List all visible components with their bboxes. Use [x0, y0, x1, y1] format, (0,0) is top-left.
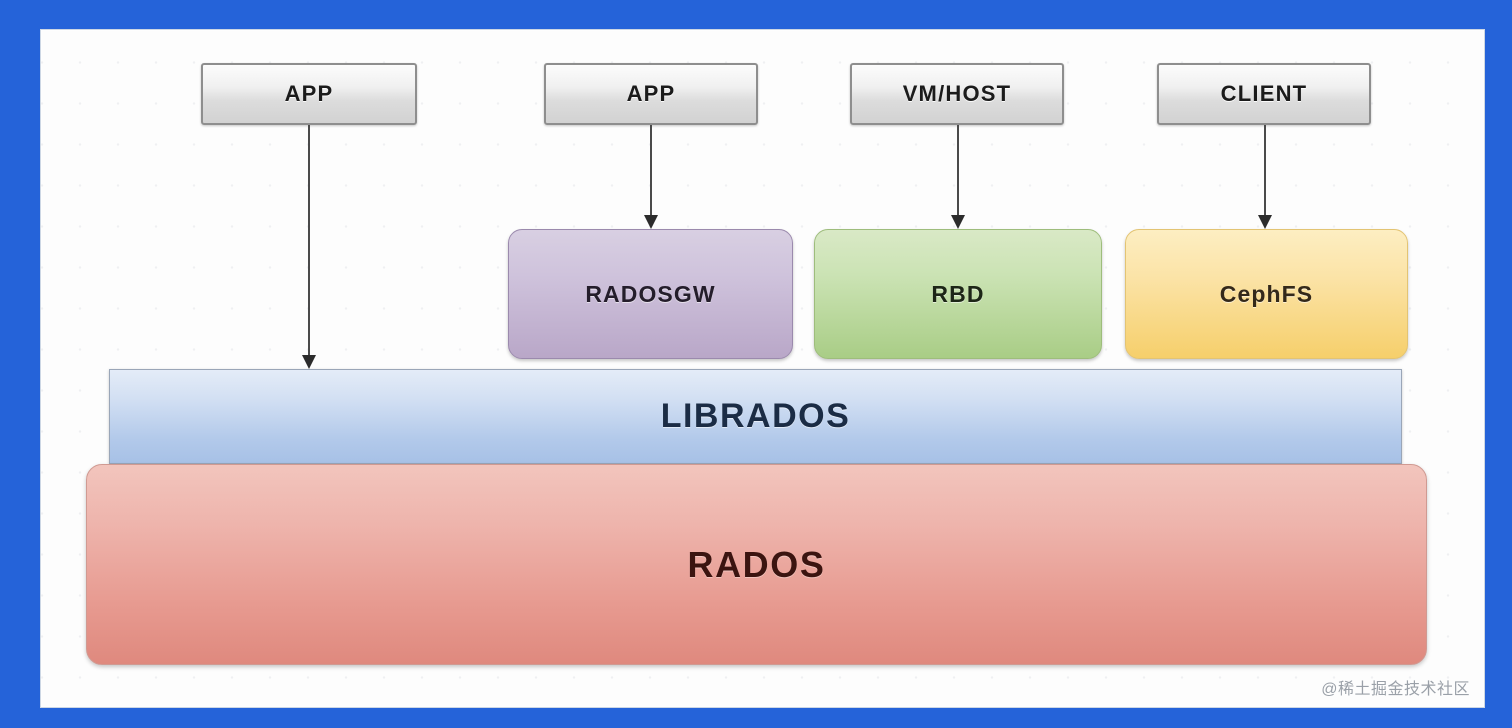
client-box-app-2[interactable]: APP — [544, 63, 758, 125]
client-box-vm-host[interactable]: VM/HOST — [850, 63, 1064, 125]
client-box-app-1[interactable]: APP — [201, 63, 417, 125]
service-box-rbd-label: RBD — [931, 281, 984, 308]
librados-layer-label: LIBRADOS — [661, 397, 851, 436]
service-box-rbd[interactable]: RBD — [814, 229, 1102, 359]
arrow-head-icon — [302, 355, 316, 369]
client-box-app-2-label: APP — [627, 81, 676, 107]
client-box-app-1-label: APP — [285, 81, 334, 107]
arrow-shaft — [308, 125, 310, 355]
arrow-shaft — [957, 125, 959, 215]
arrow-head-icon — [644, 215, 658, 229]
diagram-canvas: APP APP VM/HOST CLIENT RADOS — [40, 29, 1485, 708]
arrow-client-to-cephfs — [1258, 125, 1272, 229]
arrow-app2-to-radosgw — [644, 125, 658, 229]
client-box-vm-host-label: VM/HOST — [903, 81, 1012, 107]
arrow-head-icon — [951, 215, 965, 229]
arrow-vmhost-to-rbd — [951, 125, 965, 229]
service-box-cephfs-label: CephFS — [1220, 281, 1314, 308]
watermark: @稀土掘金技术社区 — [1321, 675, 1470, 699]
service-box-radosgw[interactable]: RADOSGW — [508, 229, 793, 359]
arrow-app1-to-librados — [302, 125, 316, 369]
client-box-client-label: CLIENT — [1221, 81, 1308, 107]
diagram-root: APP APP VM/HOST CLIENT RADOS — [0, 0, 1512, 728]
rados-layer-label: RADOS — [687, 544, 825, 586]
arrow-head-icon — [1258, 215, 1272, 229]
client-box-client[interactable]: CLIENT — [1157, 63, 1371, 125]
rados-layer[interactable]: RADOS — [86, 464, 1427, 665]
arrow-shaft — [1264, 125, 1266, 215]
service-box-radosgw-label: RADOSGW — [585, 281, 715, 308]
service-box-cephfs[interactable]: CephFS — [1125, 229, 1408, 359]
librados-layer[interactable]: LIBRADOS — [109, 369, 1402, 464]
arrow-shaft — [650, 125, 652, 215]
